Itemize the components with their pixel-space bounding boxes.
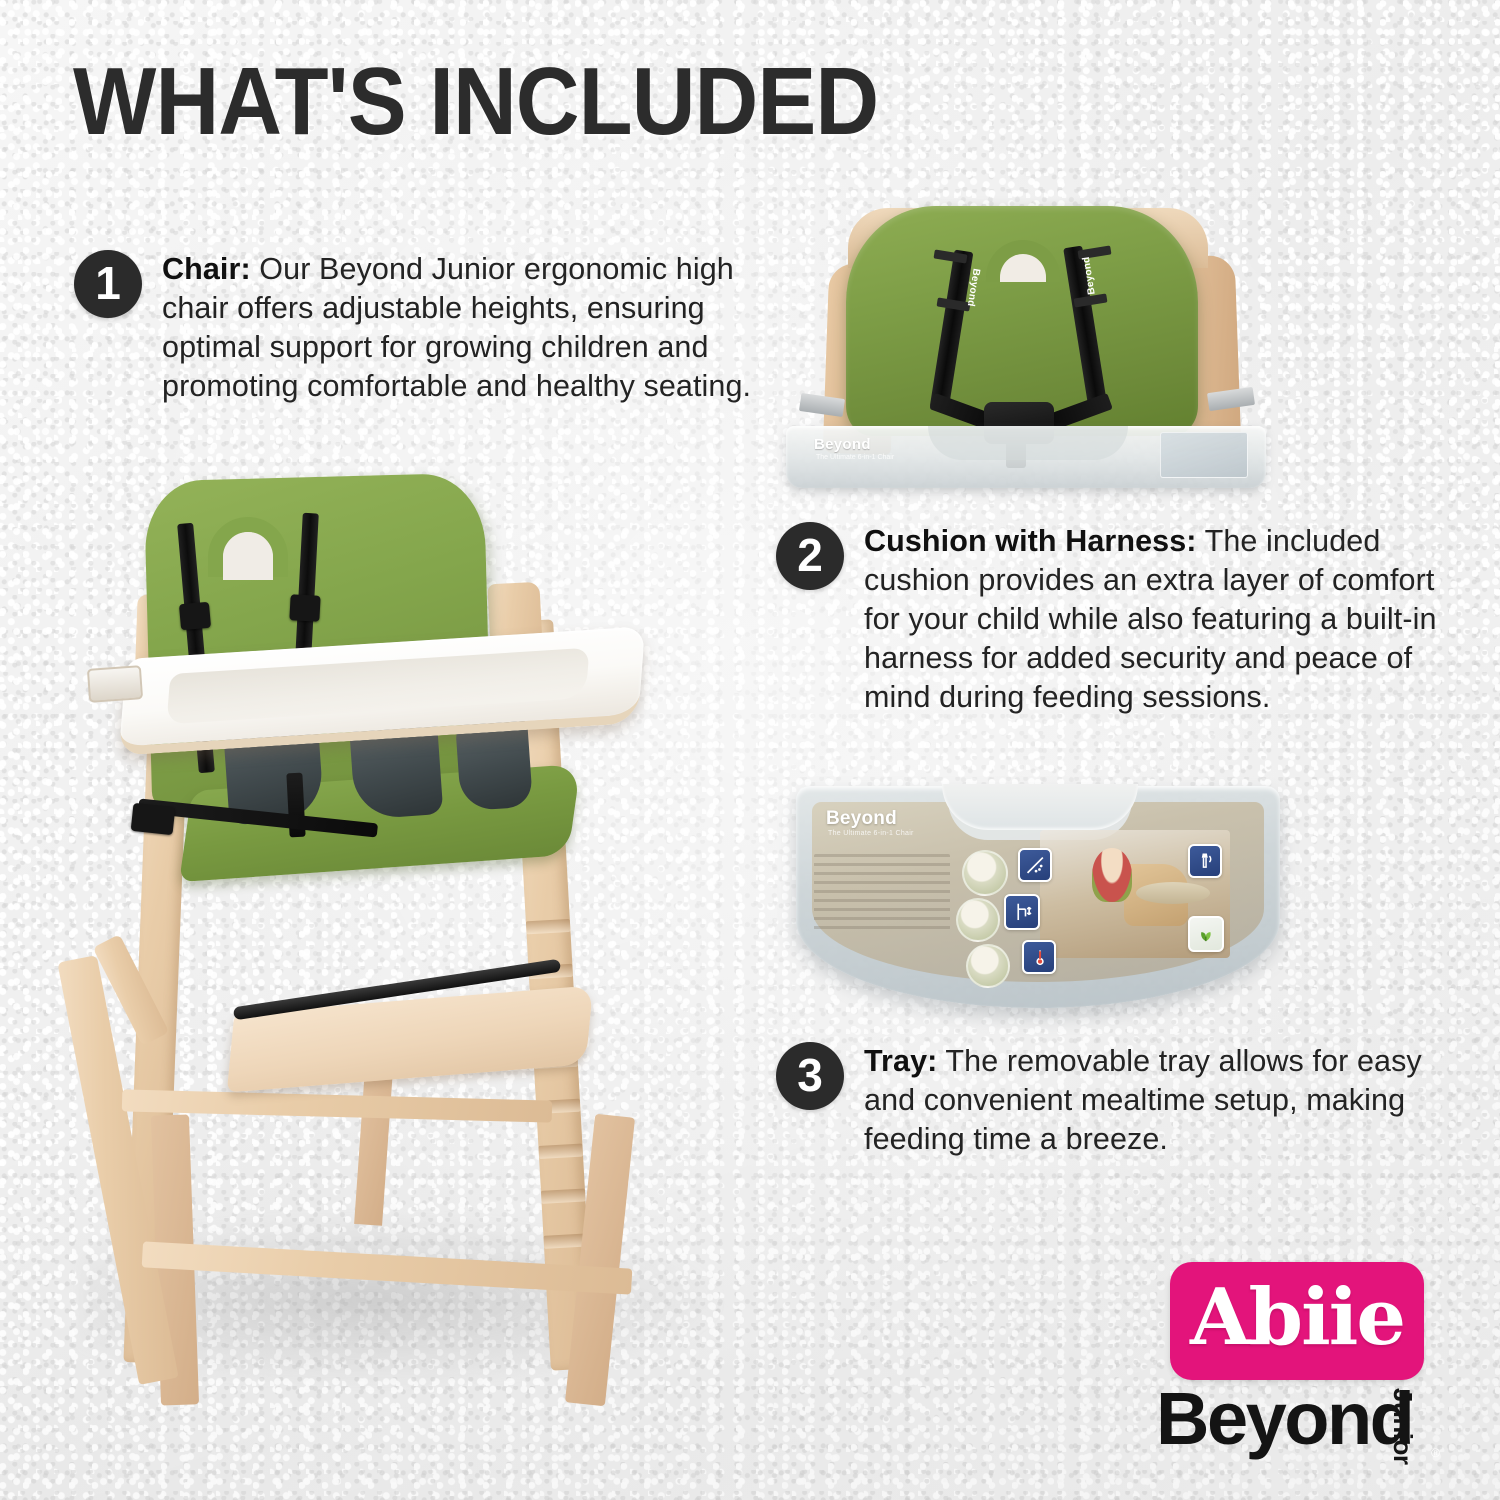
photo-table — [1136, 882, 1210, 904]
tray-packaging-insert — [1160, 432, 1248, 478]
product-photo-cushion-harness: Beyond Beyond Beyond The Ultimate 6-in-1… — [778, 190, 1278, 490]
step-body-1: Our Beyond Junior ergonomic high chair o… — [162, 252, 751, 403]
tray-body-notch — [942, 784, 1138, 830]
step-item-2: 2 Cushion with Harness: The included cus… — [776, 522, 1466, 717]
cushion-handle-cutout-inner — [223, 532, 273, 580]
step-number-badge-2: 2 — [776, 522, 844, 590]
height-notch — [538, 1144, 583, 1159]
easy-clean-icon — [1188, 844, 1222, 878]
brand-logo: Abiie ® Beyond Junior — [1156, 1262, 1456, 1472]
infographic-page: WHAT'S INCLUDED 1 Chair: Our Beyond Juni… — [0, 0, 1500, 1500]
photo-baby — [1092, 848, 1132, 902]
chair-tray-clip — [87, 665, 143, 703]
dishwasher-safe-icon — [1018, 848, 1052, 882]
harness-buckle-right — [289, 594, 320, 622]
step-number-badge-1: 1 — [74, 250, 142, 318]
height-notch — [526, 919, 571, 934]
product-photo-high-chair — [60, 455, 720, 1405]
temperature-safe-icon — [1022, 940, 1056, 974]
product-photo-tray: Beyond The Ultimate 6-in-1 Chair — [790, 768, 1290, 1048]
step-text-1: Chair: Our Beyond Junior ergonomic high … — [162, 250, 774, 406]
tray-brand-sublabel: The Ultimate 6-in-1 Chair — [816, 454, 894, 461]
step-item-1: 1 Chair: Our Beyond Junior ergonomic hig… — [74, 250, 774, 406]
eco-friendly-icon — [1188, 916, 1224, 952]
step-heading-2: Cushion with Harness: — [864, 524, 1197, 558]
logo-registered-mark: ® — [1431, 1446, 1440, 1460]
tray-thumbnail-1 — [962, 850, 1008, 896]
logo-variant-text: Junior — [1387, 1388, 1418, 1464]
page-title: WHAT'S INCLUDED — [73, 52, 878, 153]
tray-thumbnail-3 — [966, 944, 1010, 988]
step-number-badge-3: 3 — [776, 1042, 844, 1110]
tray-brand-sublabel: The Ultimate 6-in-1 Chair — [828, 830, 914, 837]
step-text-2: Cushion with Harness: The included cushi… — [864, 522, 1466, 717]
harness-buckle-left — [179, 602, 211, 631]
harness-lap-buckle — [131, 803, 176, 835]
tray-thumbnail-2 — [956, 898, 1000, 942]
step-body-3: The removable tray allows for easy and c… — [864, 1044, 1422, 1156]
tray-brand-label: Beyond — [826, 808, 897, 830]
cushion-photo-tray-notch — [928, 426, 1128, 460]
tray-brand-label: Beyond — [814, 436, 871, 453]
step-text-3: Tray: The removable tray allows for easy… — [864, 1042, 1466, 1159]
tray-label-paragraph — [814, 854, 950, 930]
step-item-3: 3 Tray: The removable tray allows for ea… — [776, 1042, 1466, 1159]
step-heading-3: Tray: — [864, 1044, 937, 1078]
step-heading-1: Chair: — [162, 252, 251, 286]
logo-product-text: Beyond — [1156, 1382, 1412, 1456]
logo-brand-text: Abiie — [1170, 1262, 1424, 1380]
height-notch — [541, 1188, 586, 1203]
adjustable-height-icon — [1004, 894, 1040, 930]
